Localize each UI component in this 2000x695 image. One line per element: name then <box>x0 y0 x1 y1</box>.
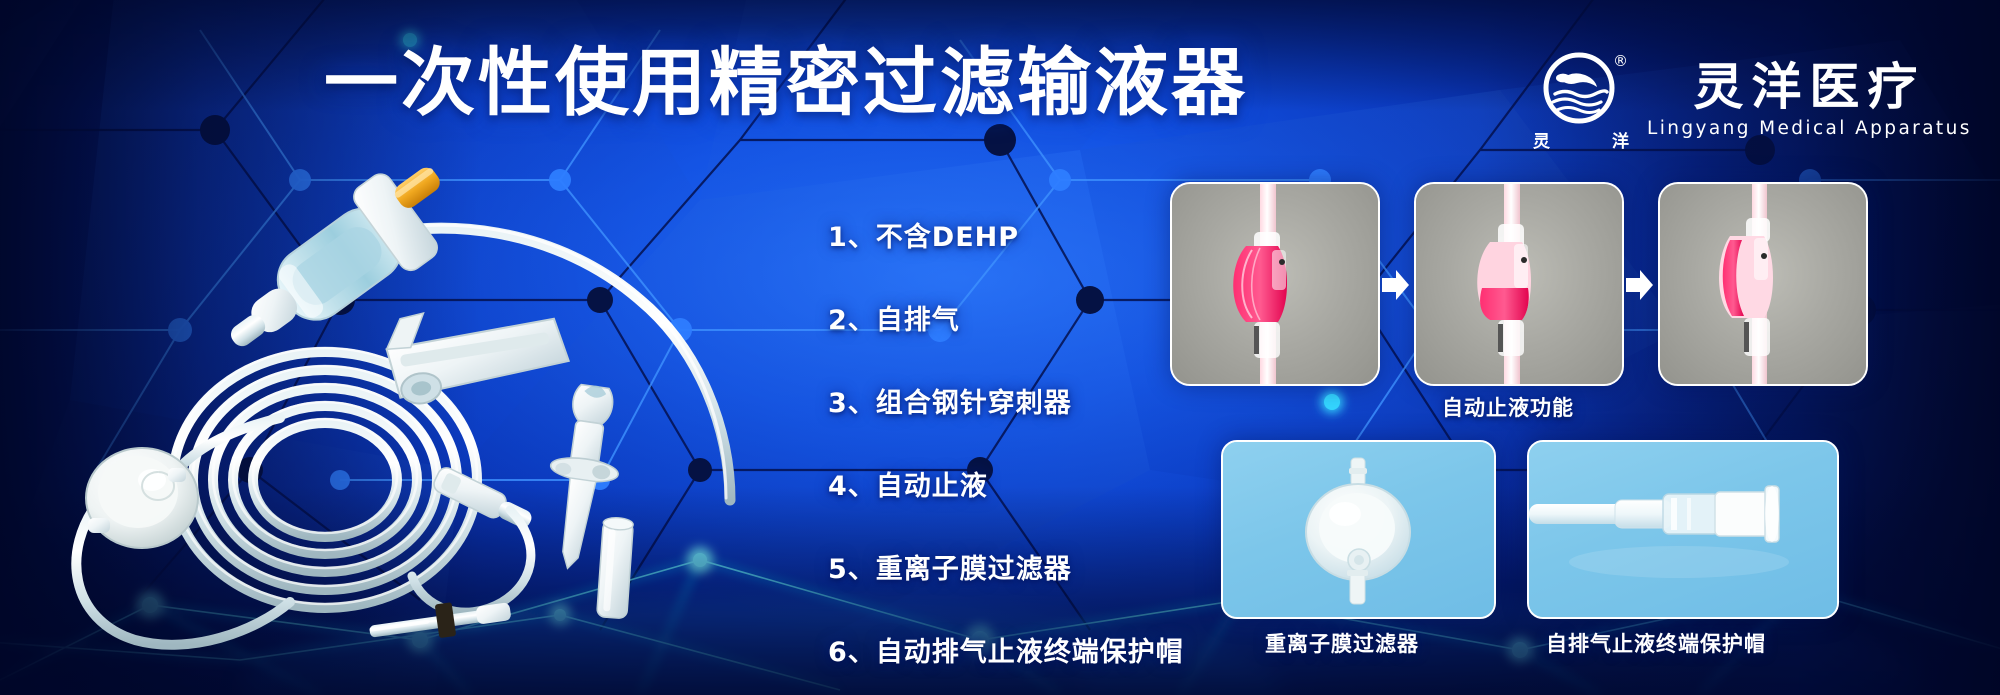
product-photo-infusion-set <box>40 150 780 670</box>
brand-logo: ® 灵 洋 灵洋医疗 Lingyang Medical Apparatus <box>1533 48 1972 152</box>
feature-item-5: 5、重离子膜过滤器 <box>828 547 1184 586</box>
svg-text:®: ® <box>1613 52 1628 70</box>
brand-name-en: Lingyang Medical Apparatus <box>1647 118 1972 139</box>
feature-item-3: 3、组合钢针穿刺器 <box>828 381 1184 420</box>
auto-stop-photo-2 <box>1414 182 1624 386</box>
logo-emblem-char-right: 洋 <box>1612 127 1629 152</box>
banner-root: 一次性使用精密过滤输液器 ® 灵 洋 灵洋医疗 Lingyang Medical… <box>0 0 2000 695</box>
right-arrow-icon <box>1380 268 1410 302</box>
feature-item-4: 4、自动止液 <box>828 464 1184 503</box>
feature-item-2: 2、自排气 <box>828 298 1184 337</box>
feature-item-1: 1、不含DEHP <box>828 215 1184 254</box>
filter-product-photo <box>1221 440 1496 619</box>
caption-filter: 重离子膜过滤器 <box>1265 628 1419 658</box>
logo-emblem-icon: ® 灵 洋 <box>1533 48 1629 152</box>
page-title: 一次性使用精密过滤输液器 <box>324 46 1248 120</box>
right-arrow-icon <box>1624 268 1654 302</box>
caption-protective-cap: 自排气止液终端保护帽 <box>1546 628 1766 658</box>
caption-auto-stop-function: 自动止液功能 <box>1442 392 1574 422</box>
protective-cap-product-photo <box>1527 440 1839 619</box>
logo-text-block: 灵洋医疗 Lingyang Medical Apparatus <box>1647 61 1972 139</box>
feature-list: 1、不含DEHP 2、自排气 3、组合钢针穿刺器 4、自动止液 5、重离子膜过滤… <box>828 215 1184 669</box>
auto-stop-photo-3 <box>1658 182 1868 386</box>
feature-item-6: 6、自动排气止液终端保护帽 <box>828 630 1184 669</box>
logo-emblem-char-left: 灵 <box>1533 127 1550 152</box>
auto-stop-photo-1 <box>1170 182 1380 386</box>
brand-name-cn: 灵洋医疗 <box>1693 61 1925 114</box>
